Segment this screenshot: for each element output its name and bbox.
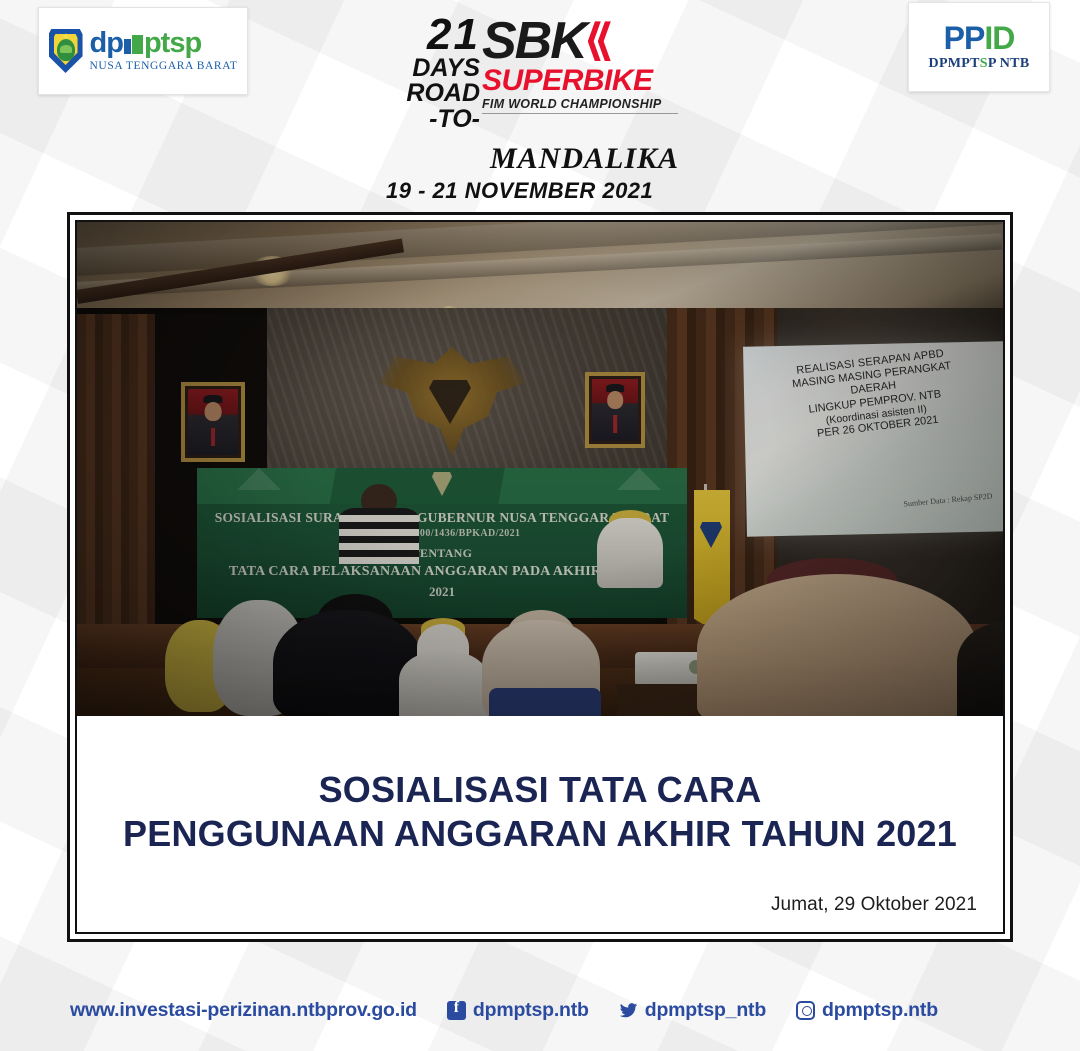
ppid-sub-c: P NTB xyxy=(988,56,1030,71)
event-photo: SOSIALISASI SURAT EDARAN GUBERNUR NUSA T… xyxy=(77,222,1003,716)
facebook-link[interactable]: dpmptsp.ntb xyxy=(447,999,589,1022)
header: dp ptsp NUSA TENGGARA BARAT 21 DAYS ROAD… xyxy=(0,0,1080,210)
sbk-superbike-text: SUPERBIKE xyxy=(482,66,678,96)
website-url[interactable]: www.investasi-perizinan.ntbprov.go.id xyxy=(70,999,417,1022)
building-icon xyxy=(124,33,143,54)
dpmptsp-logo-card: dp ptsp NUSA TENGGARA BARAT xyxy=(38,7,248,95)
ppid-text-pp: PP xyxy=(944,20,985,56)
footer: www.investasi-perizinan.ntbprov.go.id dp… xyxy=(0,982,1080,1038)
dpmptsp-wordmark: dp ptsp NUSA TENGGARA BARAT xyxy=(90,29,238,73)
sbk-days-label: DAYS xyxy=(378,56,480,82)
ppid-text-id: ID xyxy=(984,20,1014,56)
logo-text-ptsp: ptsp xyxy=(144,29,201,58)
photo-vignette xyxy=(77,222,1003,716)
sbk-letters: SBK xyxy=(482,18,586,65)
sbk-road-label: ROAD xyxy=(378,81,480,107)
instagram-handle: dpmptsp.ntb xyxy=(822,999,938,1022)
ntb-crest-icon xyxy=(49,29,83,73)
twitter-icon xyxy=(619,1001,638,1020)
ppid-sub-b: S xyxy=(980,56,988,71)
poster-inner-frame: SOSIALISASI SURAT EDARAN GUBERNUR NUSA T… xyxy=(75,220,1005,934)
sbk-mandalika-text: MANDALIKA xyxy=(490,142,679,176)
poster-date: Jumat, 29 Oktober 2021 xyxy=(771,894,977,916)
ppid-wordmark: PPID xyxy=(944,22,1015,54)
ppid-sub-a: DPMPT xyxy=(929,56,980,71)
twitter-link[interactable]: dpmptsp_ntb xyxy=(619,999,766,1022)
logo-subtitle: NUSA TENGGARA BARAT xyxy=(90,61,238,73)
poster-title-line-2: PENGGUNAAN ANGGARAN AKHIR TAHUN 2021 xyxy=(77,812,1003,856)
poster-caption: SOSIALISASI TATA CARA PENGGUNAAN ANGGARA… xyxy=(77,716,1003,932)
sbk-countdown-block: 21 DAYS ROAD -TO- xyxy=(378,14,480,132)
poster-frame: SOSIALISASI SURAT EDARAN GUBERNUR NUSA T… xyxy=(67,212,1013,942)
sbk-chevron-icon xyxy=(588,21,611,61)
sbk-fim-text: FIM WORLD CHAMPIONSHIP xyxy=(482,97,678,114)
instagram-icon xyxy=(796,1001,815,1020)
sbk-days-count: 21 xyxy=(378,14,480,56)
sbk-event-date: 19 - 21 NOVEMBER 2021 xyxy=(386,178,653,204)
poster-title: SOSIALISASI TATA CARA PENGGUNAAN ANGGARA… xyxy=(77,768,1003,856)
twitter-handle: dpmptsp_ntb xyxy=(645,999,766,1022)
ppid-subtitle: DPMPTSP NTB xyxy=(929,56,1030,72)
facebook-icon xyxy=(447,1001,466,1020)
logo-text-dp: dp xyxy=(90,29,123,58)
instagram-link[interactable]: dpmptsp.ntb xyxy=(796,999,938,1022)
sbk-event-logo: 21 DAYS ROAD -TO- SBK SUPERBIKE FIM WORL… xyxy=(378,14,678,194)
poster-title-line-1: SOSIALISASI TATA CARA xyxy=(77,768,1003,812)
sbk-wordmark: SBK SUPERBIKE FIM WORLD CHAMPIONSHIP xyxy=(482,18,678,114)
sbk-letters-row: SBK xyxy=(482,18,678,65)
facebook-handle: dpmptsp.ntb xyxy=(473,999,589,1022)
ppid-logo-card: PPID DPMPTSP NTB xyxy=(908,2,1050,92)
sbk-to-label: -TO- xyxy=(378,107,480,133)
